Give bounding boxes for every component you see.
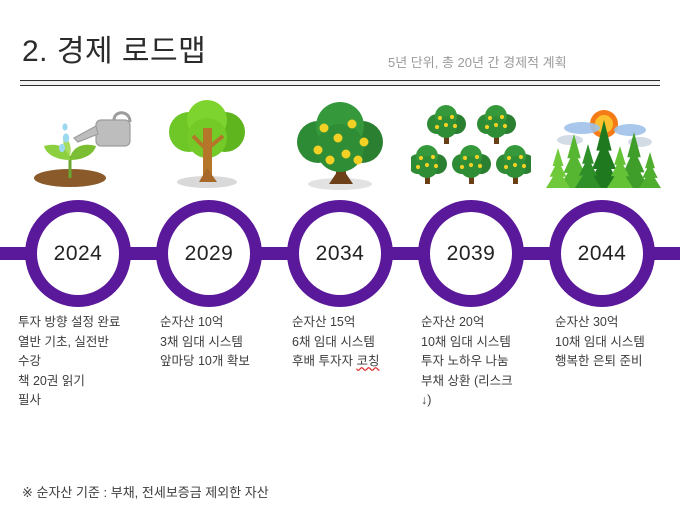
detail-line: 후배 투자자 코칭 — [292, 352, 420, 372]
young-tree-icon — [149, 98, 269, 194]
detail-line: 필사 — [18, 391, 146, 411]
seedling-watering-can-icon — [18, 98, 138, 194]
milestone-year-label: 2024 — [25, 200, 131, 307]
detail-line: 순자산 15억 — [292, 313, 420, 333]
fruit-tree-icon — [280, 98, 400, 194]
detail-line: 10채 임대 시스템 — [555, 333, 680, 353]
detail-line: 행복한 은퇴 준비 — [555, 352, 680, 372]
detail-column-2039: 순자산 20억10채 임대 시스템투자 노하우 나눔부채 상환 (리스크↓) — [421, 313, 549, 411]
detail-column-2044: 순자산 30억10채 임대 시스템행복한 은퇴 준비 — [555, 313, 680, 372]
milestone-details: 투자 방향 설정 완료열반 기초, 실전반수강책 20권 읽기필사순자산 10억… — [0, 313, 680, 463]
detail-line: 열반 기초, 실전반 — [18, 333, 146, 353]
detail-line: 10채 임대 시스템 — [421, 333, 549, 353]
detail-line: 투자 노하우 나눔 — [421, 352, 549, 372]
detail-line: 부채 상환 (리스크 — [421, 372, 549, 392]
timeline: 2024 2029 — [0, 100, 680, 320]
detail-column-2024: 투자 방향 설정 완료열반 기초, 실전반수강책 20권 읽기필사 — [18, 313, 146, 411]
detail-line: 앞마당 10개 확보 — [160, 352, 288, 372]
detail-line: ↓) — [421, 391, 549, 411]
footnote: ※ 순자산 기준 : 부채, 전세보증금 제외한 자산 — [22, 482, 269, 501]
detail-line: 3채 임대 시스템 — [160, 333, 288, 353]
detail-line: 순자산 20억 — [421, 313, 549, 333]
detail-line: 순자산 30억 — [555, 313, 680, 333]
page-subtitle: 5년 단위, 총 20년 간 경제적 계획 — [388, 52, 567, 71]
milestone-year-label: 2044 — [549, 200, 655, 307]
milestone-year-label: 2029 — [156, 200, 262, 307]
detail-line: 수강 — [18, 352, 146, 372]
milestone-2044[interactable]: 2044 — [549, 200, 655, 307]
milestone-2029[interactable]: 2029 — [156, 200, 262, 307]
slide-header: 2. 경제 로드맵 5년 단위, 총 20년 간 경제적 계획 — [0, 0, 680, 86]
title-divider — [20, 80, 660, 86]
detail-line: 투자 방향 설정 완료 — [18, 313, 146, 333]
milestone-year-label: 2039 — [418, 200, 524, 307]
detail-line: 순자산 10억 — [160, 313, 288, 333]
milestone-2039[interactable]: 2039 — [418, 200, 524, 307]
orchard-five-trees-icon — [411, 98, 531, 194]
pine-forest-sun-icon — [542, 98, 662, 194]
milestone-2024[interactable]: 2024 — [25, 200, 131, 307]
milestone-2034[interactable]: 2034 — [287, 200, 393, 307]
detail-line: 책 20권 읽기 — [18, 372, 146, 392]
milestone-year-label: 2034 — [287, 200, 393, 307]
detail-column-2029: 순자산 10억3채 임대 시스템앞마당 10개 확보 — [160, 313, 288, 372]
detail-column-2034: 순자산 15억6채 임대 시스템후배 투자자 코칭 — [292, 313, 420, 372]
detail-line-text: 후배 투자자 — [292, 354, 356, 368]
detail-line: 6채 임대 시스템 — [292, 333, 420, 353]
spellcheck-flagged-word: 코칭 — [356, 354, 379, 368]
page-title: 2. 경제 로드맵 — [22, 26, 206, 70]
